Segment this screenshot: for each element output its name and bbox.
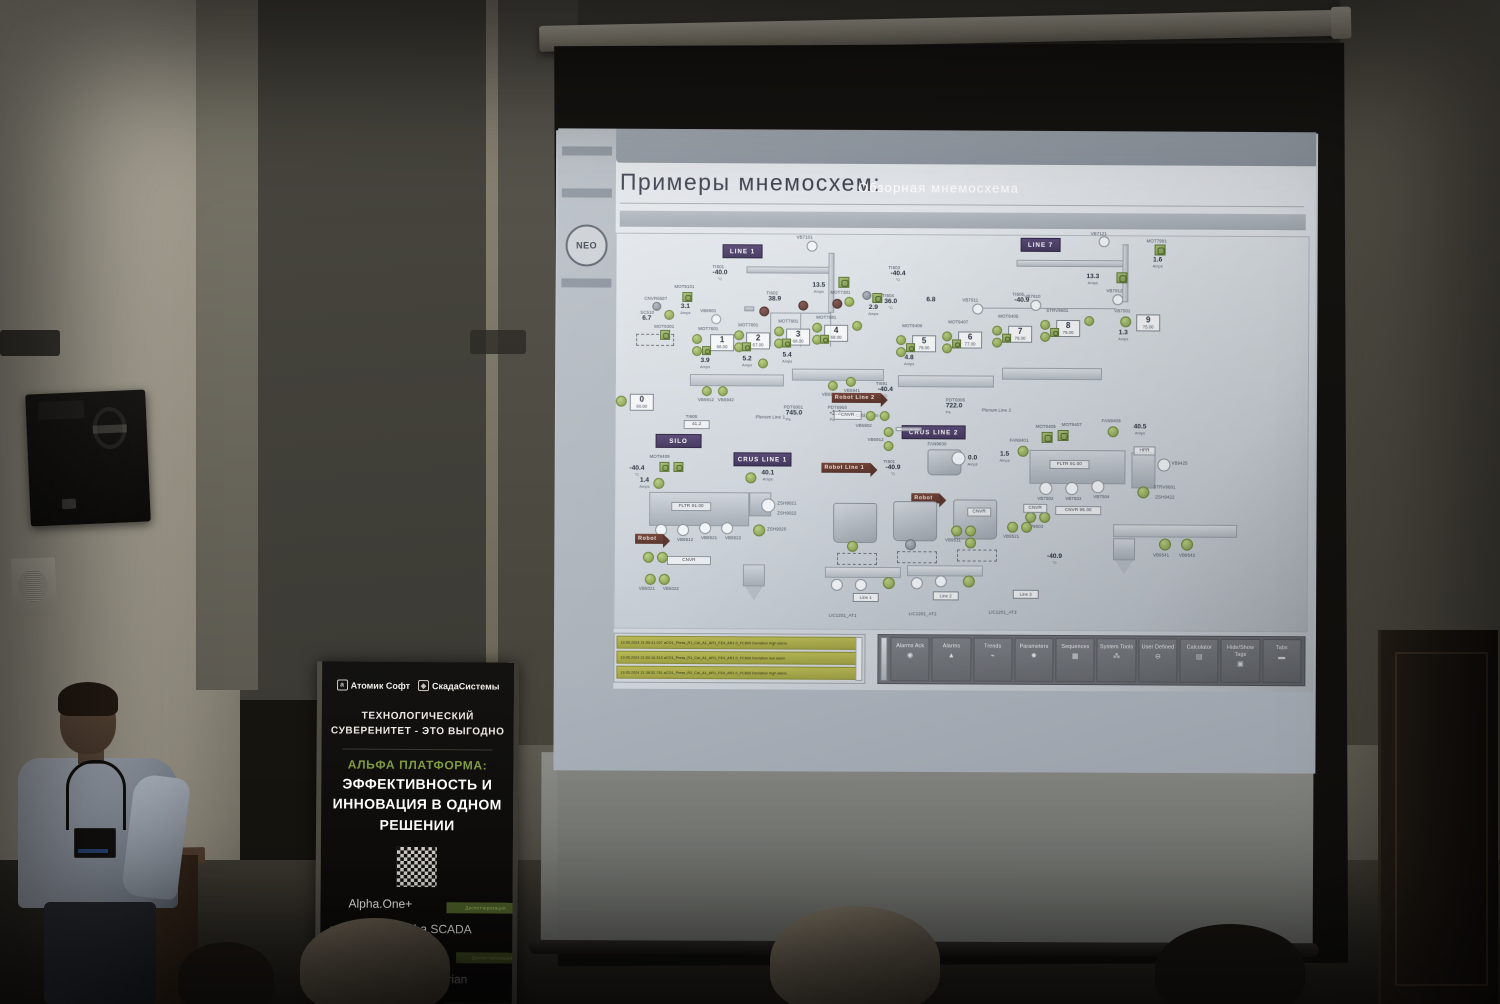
hopper-cone-left — [745, 586, 763, 600]
readout-pdt6006-unit: Pa — [946, 410, 963, 414]
equip-cnvr-c[interactable]: CNVR — [1023, 504, 1047, 513]
amp-3-9-unit: Amps — [700, 365, 710, 369]
valve-vb6000[interactable] — [616, 396, 627, 407]
neo-logo: NEO — [565, 224, 607, 266]
valve-open-b10[interactable] — [758, 358, 768, 368]
gear-icon: ✹ — [1029, 653, 1038, 662]
unit-7-number: 7 — [1009, 328, 1031, 336]
slide-title: Примеры мнемосхем: — [620, 169, 881, 197]
tag-vb6941-b: VB6942 — [718, 397, 734, 402]
valve-f1[interactable] — [1039, 482, 1052, 495]
alarm-row[interactable]: 19.05.2024 21:38:52.791 aCO1_Press_R2_Ca… — [616, 666, 862, 680]
unit-0-number: 0 — [631, 396, 653, 404]
tag-vb9522: VB9522 — [725, 535, 741, 540]
valve-fan9401[interactable] — [1018, 446, 1029, 457]
audience-head — [300, 918, 450, 1004]
product-item-alpha-one: Alpha.One+ Диспетчеризация — [326, 896, 506, 922]
roller-end-cap — [1331, 7, 1352, 39]
tag-zsh9422: ZSH9422 — [1155, 494, 1174, 499]
speaker-logo — [62, 499, 76, 510]
unit-box-9[interactable]: 9 75.00 — [1136, 314, 1160, 331]
amp-13-3: 13.3 Amps — [1086, 274, 1099, 285]
tag-mot7901-c: MOT7901 — [778, 318, 798, 323]
valve-strv9621[interactable] — [1137, 486, 1149, 498]
valve-vb6901[interactable] — [711, 314, 721, 324]
section-tag-silo[interactable]: SILO — [656, 434, 702, 448]
slide: NEO Примеры мнемосхем: Обзорная мнемосхе… — [555, 128, 1316, 692]
tag-mot9101: MOT9101 — [674, 284, 694, 289]
sidebar-block-2 — [562, 188, 612, 197]
hopper-right[interactable] — [1113, 538, 1135, 560]
hopper-left-bottom[interactable] — [743, 564, 765, 586]
valve-t-a1[interactable] — [831, 579, 843, 591]
conveyor-line7-a — [898, 375, 994, 388]
valve-l1-g3[interactable] — [645, 574, 656, 585]
valve-open-c9[interactable] — [1084, 316, 1094, 326]
tag-vb7121: VB7121 — [1091, 231, 1107, 236]
readout-ti604-unit: °C — [884, 306, 897, 310]
unit-box-6[interactable]: 6 77.00 — [958, 331, 982, 348]
motor-line7-b[interactable] — [952, 339, 961, 348]
toolbar-button-alarms-ack[interactable]: Alarms Ack ◉ — [890, 637, 930, 681]
tag-pdt6001: PDT6001 — [784, 405, 803, 410]
motor-7601-c[interactable] — [782, 339, 791, 348]
tag-ti905: TI905 — [686, 414, 698, 419]
door[interactable] — [1378, 630, 1498, 1004]
audience-head — [1155, 924, 1305, 1004]
ceiling-recess-left — [0, 330, 60, 356]
conveyor-right-lower — [1113, 524, 1237, 538]
valve-vb6931[interactable] — [828, 381, 838, 391]
valve-rb3[interactable] — [1007, 522, 1018, 533]
equip-cnvr-95[interactable]: CNVR 95.00 — [1055, 506, 1101, 515]
tag-pdt6006: PDT6006 — [946, 397, 965, 402]
motor-line7-a[interactable] — [906, 343, 915, 352]
motor-7901-x[interactable] — [872, 293, 882, 303]
toolbar-button-calculator[interactable]: Calculator ▤ — [1179, 639, 1219, 683]
valve-open-b1[interactable] — [692, 334, 702, 344]
readout-ti602-value: 38.9 — [768, 296, 781, 303]
toolbar-button-trends[interactable]: Trends ⌁ — [973, 638, 1013, 682]
tag-vb7101: VB7101 — [797, 235, 813, 240]
valve-vb9021[interactable] — [761, 498, 775, 512]
valve-rb4[interactable] — [1021, 522, 1032, 533]
caption-plenum-line2: Plenum Line 2 — [982, 408, 1011, 413]
tag-lic1201-at1: LIC1201_AT1 — [829, 613, 857, 618]
product-name: Alpha.One+ — [348, 896, 412, 910]
tag-mot9405: MOT9405 — [1036, 424, 1056, 429]
line-box-2[interactable]: Line 2 — [933, 591, 959, 600]
fan-wheel-9630 — [951, 451, 965, 465]
toolbar-button-alarms[interactable]: Alarms ▲ — [932, 637, 972, 681]
valve-vb6938[interactable] — [702, 386, 712, 396]
amp-5-4-unit: Amps — [782, 359, 792, 363]
tag-vb7502: VB7503 — [1065, 496, 1081, 501]
tag-ti602: TI602 — [766, 290, 778, 295]
readout-ti602b-unit: °C — [629, 472, 644, 476]
readout-ti602b: -40.4 °C — [629, 466, 644, 477]
tag-mot7981-d: MOT7981 — [816, 315, 836, 320]
valve-vb9425[interactable] — [1157, 458, 1170, 471]
unit-6-number: 6 — [959, 333, 981, 341]
tag-zsh9022: ZSH9022 — [777, 510, 796, 515]
qr-code-icon[interactable] — [397, 847, 437, 887]
unit-2-number: 2 — [747, 334, 769, 342]
tag-vb9541: VB9541 — [1153, 552, 1169, 557]
presenter — [8, 680, 188, 1004]
tag-vb9521: VB9521 — [701, 535, 717, 540]
valve-vb7910[interactable] — [972, 304, 983, 315]
motor-sp7601[interactable] — [838, 277, 849, 288]
readout-ti601: -40.0 °C — [712, 270, 727, 281]
valve-open-b7[interactable] — [812, 323, 822, 333]
unit-4-number: 4 — [825, 327, 847, 335]
motor-7601-d[interactable] — [820, 335, 829, 344]
valve-open-a1[interactable] — [664, 310, 674, 320]
tag-vb7910: VB7910 — [1024, 294, 1040, 299]
tag-mot7601-a: MOT7601 — [698, 326, 718, 331]
toolbar-label: Calculator — [1187, 645, 1212, 652]
valve-tank1-out[interactable] — [847, 541, 858, 552]
valve-tank3-out[interactable] — [965, 537, 976, 548]
valve-l1-v4[interactable] — [721, 522, 733, 534]
motor-sp7901[interactable] — [1116, 272, 1127, 283]
unit-8-number: 8 — [1057, 322, 1079, 330]
amp-3-1-a: 3.1 Amps — [680, 304, 690, 315]
amp-2-9: 2.9 Amps — [868, 305, 878, 316]
tag-ti604: TI604 — [882, 293, 894, 298]
readout-fan9630-unit: Amps — [967, 462, 977, 466]
amp-40-5-unit: Amps — [1134, 431, 1147, 435]
valve-open-c1[interactable] — [896, 335, 906, 345]
valve-open-c3[interactable] — [942, 331, 952, 341]
unit-3-number: 3 — [787, 331, 809, 339]
toolbar-label: Trends — [984, 644, 1001, 651]
valve-strv-left[interactable] — [753, 524, 765, 536]
unit-1-number: 1 — [711, 336, 733, 344]
amp-3-1-a-unit: Amps — [680, 311, 690, 315]
valve-e4[interactable] — [884, 441, 894, 451]
valve-open-c6[interactable] — [992, 338, 1002, 348]
amp-6-8: 6.8 — [926, 297, 935, 304]
motor-7601-b[interactable] — [742, 342, 751, 351]
valve-t-b1[interactable] — [911, 577, 923, 589]
valve-grey-a[interactable] — [862, 291, 871, 300]
readout-ti905-value: 41.2 — [692, 421, 701, 426]
valve-closed-c[interactable] — [832, 299, 842, 309]
alarm-row[interactable]: 19.05.2024 21:50:16.513 aCO1_Press_R1_Ca… — [616, 651, 862, 665]
readout-ti601-unit: °C — [712, 277, 727, 281]
valve-vb6942[interactable] — [718, 386, 728, 396]
lanyard — [66, 760, 126, 830]
audience-head — [178, 942, 274, 1004]
motor-l1-b[interactable] — [673, 462, 683, 472]
amp-4-8-unit: Amps — [904, 362, 914, 366]
valve-l1-g1[interactable] — [643, 552, 654, 563]
toolbar-button-hide-show-tags[interactable]: Hide/Show Tags ▣ — [1221, 639, 1261, 683]
readout-sc510-value: 6.7 — [642, 316, 651, 323]
valve-closed-b[interactable] — [798, 301, 808, 311]
sidebar-block-3 — [561, 278, 611, 287]
motor-9101[interactable] — [682, 292, 692, 302]
tag-fan9409: FAN9409 — [1102, 418, 1121, 423]
unit-0-value: 60.00 — [631, 404, 653, 409]
valve-open-b2[interactable] — [692, 346, 702, 356]
unit-box-8[interactable]: 8 79.00 — [1056, 320, 1080, 337]
tag-vb9511-b: VB9511 — [945, 537, 961, 542]
section-tag-crus-line-1[interactable]: CRUS LINE 1 — [733, 452, 791, 466]
motor-l1-a[interactable] — [659, 462, 669, 472]
amp-13-5-unit: Amps — [812, 289, 825, 293]
toolbar-drag-handle[interactable] — [880, 637, 887, 681]
alarm-list[interactable]: 19.05.2024 21:50:41.027 aCO1_Press_R1_Ca… — [613, 633, 865, 684]
tag-zsh9021: ZSH9021 — [777, 500, 796, 505]
atomik-mark-icon: а — [337, 679, 348, 690]
equip-fltr-91-left[interactable]: FLTR 91.00 — [671, 502, 711, 511]
slide-subtitle: Обзорная мнемосхема — [858, 180, 1019, 196]
valve-vb7911[interactable] — [1030, 300, 1041, 311]
valve-fan9409[interactable] — [1108, 426, 1119, 437]
cube-mark-icon: ◈ — [418, 680, 429, 691]
robot-tag-line-1[interactable]: Robot Line 1 — [821, 463, 870, 473]
tag-cnvr6587: CNVR6587 — [644, 296, 667, 301]
tag-pdt6950: PDT6950 — [828, 405, 847, 410]
valve-t-b2[interactable] — [935, 575, 947, 587]
valve-open-b3[interactable] — [734, 330, 744, 340]
motor-9405[interactable] — [1042, 432, 1053, 443]
hopper-cone-right — [1115, 560, 1133, 574]
valve-closed-a[interactable] — [759, 306, 769, 316]
amp-40-5: 40.5 Amps — [1134, 424, 1147, 435]
motor-9407[interactable] — [1058, 430, 1069, 441]
toolbar-label: Hide/Show Tags — [1222, 645, 1259, 659]
amp-1-3: 1.3 Amps — [1118, 330, 1128, 341]
line-box-3-label: Line 3 — [1014, 592, 1038, 597]
silo-tank-1[interactable] — [833, 503, 877, 543]
pa-speaker-icon — [25, 389, 151, 526]
tag-mot7801-b: MOT7801 — [738, 322, 758, 327]
unit-6-value: 77.00 — [959, 341, 981, 346]
readout-ti905-box: 41.2 — [684, 420, 710, 429]
motor-9301[interactable] — [660, 330, 670, 340]
unit-1-value: 68.00 — [711, 344, 733, 349]
valve-open-c8[interactable] — [1040, 332, 1050, 342]
alarm-list-scrollbar[interactable] — [855, 637, 862, 681]
tag-vb6912: VB6912 — [868, 437, 884, 442]
mimic-toolbar[interactable]: Alarms Ack ◉ Alarms ▲ Trends ⌁ Parameter… — [877, 634, 1305, 686]
valve-rb1[interactable] — [951, 525, 962, 536]
amp-2-9-unit: Amps — [868, 312, 878, 316]
slide-top-bar — [616, 129, 1316, 167]
dash-tank1 — [837, 553, 877, 565]
valve-t-a2[interactable] — [855, 579, 867, 591]
tag-fan9401: FAN9401 — [1010, 438, 1029, 443]
amp-13-3-unit: Amps — [1086, 281, 1099, 285]
tag-sc510: SC510 — [640, 310, 654, 315]
valve-rb2[interactable] — [965, 525, 976, 536]
readout-fan9630: 0.0 Amps — [967, 455, 977, 466]
slide-rule — [620, 203, 1304, 208]
logo-scada-systems: ◈ СкадаСистемы — [418, 680, 499, 692]
line-box-2-label: Line 2 — [934, 593, 958, 598]
audience-head — [770, 906, 940, 1004]
equip-cnvr-b[interactable]: CNVR — [967, 507, 991, 516]
equip-cnvr-a[interactable]: CNVR — [834, 411, 862, 420]
line-box-1[interactable]: Line 1 — [853, 593, 879, 602]
toolbar-button-tabs[interactable]: Tabs ▬ — [1262, 639, 1302, 683]
valve-open-c7[interactable] — [1040, 320, 1050, 330]
screenshot-root: NEO Примеры мнемосхем: Обзорная мнемосхе… — [0, 0, 1500, 1004]
valve-open-b5[interactable] — [774, 326, 784, 336]
wall-speaker-small — [11, 557, 57, 617]
screen-lower-blank — [541, 752, 1314, 945]
tag-mot9407: MOT9407 — [1062, 422, 1082, 427]
valve-g2[interactable] — [1039, 512, 1050, 523]
valve-f3[interactable] — [1091, 480, 1104, 493]
tag-ti902: TI901 — [883, 459, 895, 464]
valve-l1-v2[interactable] — [677, 524, 689, 536]
tag-vb7503: VB7504 — [1093, 494, 1109, 499]
readout-ti901: -40.9 °C — [1047, 554, 1062, 565]
unit-9-number: 9 — [1137, 316, 1159, 324]
readout-pdt6006: 722.0 Pa — [946, 403, 963, 414]
tag-mot7301-l7b: MOT9407 — [948, 319, 968, 324]
silo-right[interactable] — [1131, 452, 1155, 488]
valve-l1-g4[interactable] — [659, 574, 670, 585]
badge — [74, 828, 116, 858]
pipe-line7-top — [1016, 260, 1126, 268]
unit-box-7[interactable]: 7 78.00 — [1008, 326, 1032, 343]
motor-mot7391[interactable] — [1155, 244, 1166, 255]
amp-5-2: 5.2 Amps — [742, 356, 752, 367]
tag-vb7912: VB7912 — [1106, 288, 1122, 293]
readout-ti603: -40.4 °C — [890, 271, 905, 282]
unit-9-value: 75.00 — [1137, 324, 1159, 329]
valve-vb7121[interactable] — [1099, 236, 1110, 247]
sidebar-block-1 — [562, 146, 612, 155]
readout-pdt6001-unit: Pa — [786, 417, 803, 421]
line-box-1-label: Line 1 — [854, 595, 878, 600]
toolbar-button-sequences[interactable]: Sequences ▦ — [1056, 638, 1096, 682]
tag-vb7911: VB7911 — [962, 297, 978, 302]
valve-vb9532[interactable] — [1181, 539, 1193, 551]
equip-fltr-91[interactable]: FLTR 91.00 — [1049, 460, 1089, 469]
caption-plenum-line1: Plenum Line 1 — [756, 414, 785, 419]
tag-mot7991: MOT7991 — [1147, 238, 1167, 243]
valve-open-d1[interactable] — [844, 297, 854, 307]
valve-open-b9[interactable] — [852, 321, 862, 331]
unit-box-1[interactable]: 1 68.00 — [710, 334, 734, 351]
banner-subhead: ЭФФЕКТИВНОСТЬ И ИННОВАЦИЯ В ОДНОМ РЕШЕНИ… — [321, 773, 513, 835]
toolbar-button-parameters[interactable]: Parameters ✹ — [1014, 638, 1054, 682]
valve-fan-l1[interactable] — [745, 472, 756, 483]
toolbar-label: System Tools — [1100, 644, 1133, 651]
projector-screen: NEO Примеры мнемосхем: Обзорная мнемосхе… — [523, 10, 1375, 979]
valve-open-c4[interactable] — [942, 343, 952, 353]
valve-l1-v3[interactable] — [699, 522, 711, 534]
silo-tank-2[interactable] — [893, 501, 937, 541]
conveyor-tanks-b — [907, 565, 983, 576]
motor-7601-a[interactable] — [702, 346, 711, 355]
duct-line1-a — [744, 306, 754, 311]
door-panel — [1395, 652, 1488, 986]
valve-tank2-out[interactable] — [905, 539, 916, 550]
amp-1-4: 1.4 Amps — [639, 478, 649, 489]
valve-open-c5[interactable] — [992, 326, 1002, 336]
unit-7-value: 78.00 — [1009, 336, 1031, 341]
tag-ti691: TI691 — [876, 381, 888, 386]
tag-mot7601-l7a: MOT9409 — [902, 323, 922, 328]
dash-tank3 — [957, 549, 997, 561]
valve-e1[interactable] — [866, 411, 876, 421]
nodes-icon: ⁂ — [1112, 653, 1121, 662]
ceiling-recess-mid — [470, 330, 526, 354]
speaker-horn — [92, 406, 128, 449]
valve-t-a3[interactable] — [883, 577, 895, 589]
valve-e3[interactable] — [884, 427, 894, 437]
mimic-diagram[interactable]: LINE 1 VB7101 -40.0 °C TI601 38.9 TI602 … — [614, 233, 1310, 633]
amp-1-4-unit: Amps — [639, 484, 649, 488]
unit-box-0[interactable]: 0 60.00 — [630, 394, 654, 411]
equip-cnvr-left[interactable]: CNVR — [667, 556, 711, 565]
robot-tag-left[interactable]: Robot — [635, 534, 663, 544]
calculator-icon: ▤ — [1195, 653, 1204, 662]
wall-panel-dark — [232, 0, 494, 700]
amp-5-4: 5.4 Amps — [782, 353, 792, 364]
toolbar-button-user-defined[interactable]: User Defined ⊖ — [1138, 638, 1178, 682]
toolbar-button-system-tools[interactable]: System Tools ⁂ — [1097, 638, 1137, 682]
equip-hpr-right[interactable]: HPR — [1134, 446, 1156, 455]
robot-tag-line-2[interactable]: Robot Line 2 — [832, 393, 881, 403]
slide-band — [620, 211, 1306, 231]
tag-strv9621: STRV9601 — [1153, 484, 1175, 489]
alarm-row[interactable]: 19.05.2024 21:50:41.027 aCO1_Press_R1_Ca… — [616, 636, 862, 650]
tag-mot9409-l1: MOT9409 — [649, 454, 669, 459]
valve-f2[interactable] — [1065, 482, 1078, 495]
valve-e2[interactable] — [880, 411, 890, 421]
section-tag-line-7[interactable]: LINE 7 — [1021, 238, 1061, 252]
toolbar-label: Tabs — [1276, 645, 1288, 652]
amp-3-9: 3.9 Amps — [700, 358, 710, 369]
valve-vb7500[interactable] — [1120, 316, 1131, 327]
banner-divider — [343, 748, 493, 750]
valve-vb7913[interactable] — [1112, 294, 1123, 305]
motor-line7-d[interactable] — [1050, 328, 1059, 337]
tabs-icon: ▬ — [1277, 654, 1286, 663]
tag-vb7500: VB7501 — [1114, 308, 1130, 313]
tag-vb6901: VB6901 — [700, 308, 716, 313]
minus-circle-icon: ⊖ — [1153, 653, 1162, 662]
line-box-3[interactable]: Line 3 — [1013, 590, 1039, 599]
amp-13-5: 13.5 Amps — [812, 283, 825, 294]
valve-vb6937[interactable] — [846, 377, 856, 387]
valve-vb7101[interactable] — [807, 241, 818, 252]
tag-mot9301: MOT9301 — [654, 324, 674, 329]
valve-t-b3[interactable] — [963, 575, 975, 587]
unit-box-5[interactable]: 5 78.00 — [912, 335, 936, 352]
dash-tank2 — [897, 551, 937, 563]
motor-line7-c[interactable] — [1002, 334, 1011, 343]
banner-logos: а Атомик Софт ◈ СкадаСистемы — [322, 679, 514, 691]
valve-l1-g2[interactable] — [657, 552, 668, 563]
valve-vb9531[interactable] — [1159, 538, 1171, 550]
section-tag-line-1[interactable]: LINE 1 — [723, 244, 763, 258]
camera-icon: ▣ — [1236, 660, 1245, 669]
tag-fan9630: FAN9630 — [928, 441, 947, 446]
tag-vb9425: VB9425 — [1171, 461, 1187, 466]
logo-scada-text: СкадаСистемы — [432, 681, 499, 691]
valve-l1-fan[interactable] — [653, 478, 664, 489]
